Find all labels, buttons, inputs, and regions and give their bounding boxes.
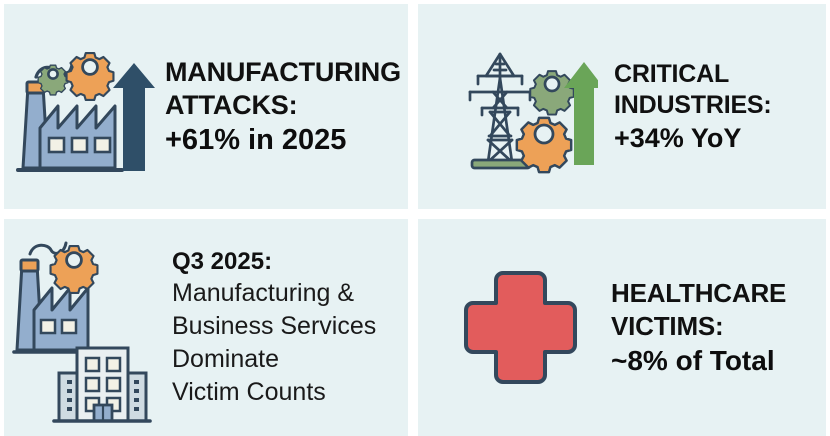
panel-heading-line-1: HEALTHCARE [611,277,826,310]
panel-heading-line-2: VICTIMS: [611,310,826,343]
panel-healthcare-victims: HEALTHCARE VICTIMS: ~8% of Total [415,216,830,436]
panel-manufacturing-attacks: MANUFACTURING ATTACKS: +61% in 2025 [0,0,415,216]
medical-cross-icon [458,265,583,390]
infographic-grid: MANUFACTURING ATTACKS: +61% in 2025 [0,0,830,436]
body-line-3: Dominate [172,343,408,376]
panel-heading-line-2: INDUSTRIES: [614,90,826,121]
manufacturing-attacks-text: MANUFACTURING ATTACKS: +61% in 2025 [165,56,408,158]
panel-critical-industries: CRITICAL INDUSTRIES: +34% YoY [415,0,830,216]
panel-heading-line-2: ATTACKS: [165,89,408,122]
healthcare-victims-text: HEALTHCARE VICTIMS: ~8% of Total [611,277,826,378]
body-line-2: Business Services [172,310,408,343]
q3-victim-counts-text: Q3 2025: Manufacturing & Business Servic… [172,246,408,409]
panel-q3-victim-counts: Q3 2025: Manufacturing & Business Servic… [0,216,415,436]
panel-heading-line-1: CRITICAL [614,59,826,90]
manufacturing-attacks-stat: +61% in 2025 [165,122,408,158]
factory-office-building-gear-icon [8,230,158,425]
body-line-4: Victim Counts [172,376,408,409]
critical-industries-stat: +34% YoY [614,121,826,155]
body-line-1: Manufacturing & [172,277,408,310]
healthcare-victims-stat: ~8% of Total [611,343,826,378]
panel-heading-line-1: MANUFACTURING [165,56,408,89]
power-tower-gears-up-arrow-icon [448,32,598,182]
factory-gears-up-arrow-icon [10,32,155,182]
critical-industries-text: CRITICAL INDUSTRIES: +34% YoY [614,59,826,155]
q3-label: Q3 2025: [172,246,408,277]
